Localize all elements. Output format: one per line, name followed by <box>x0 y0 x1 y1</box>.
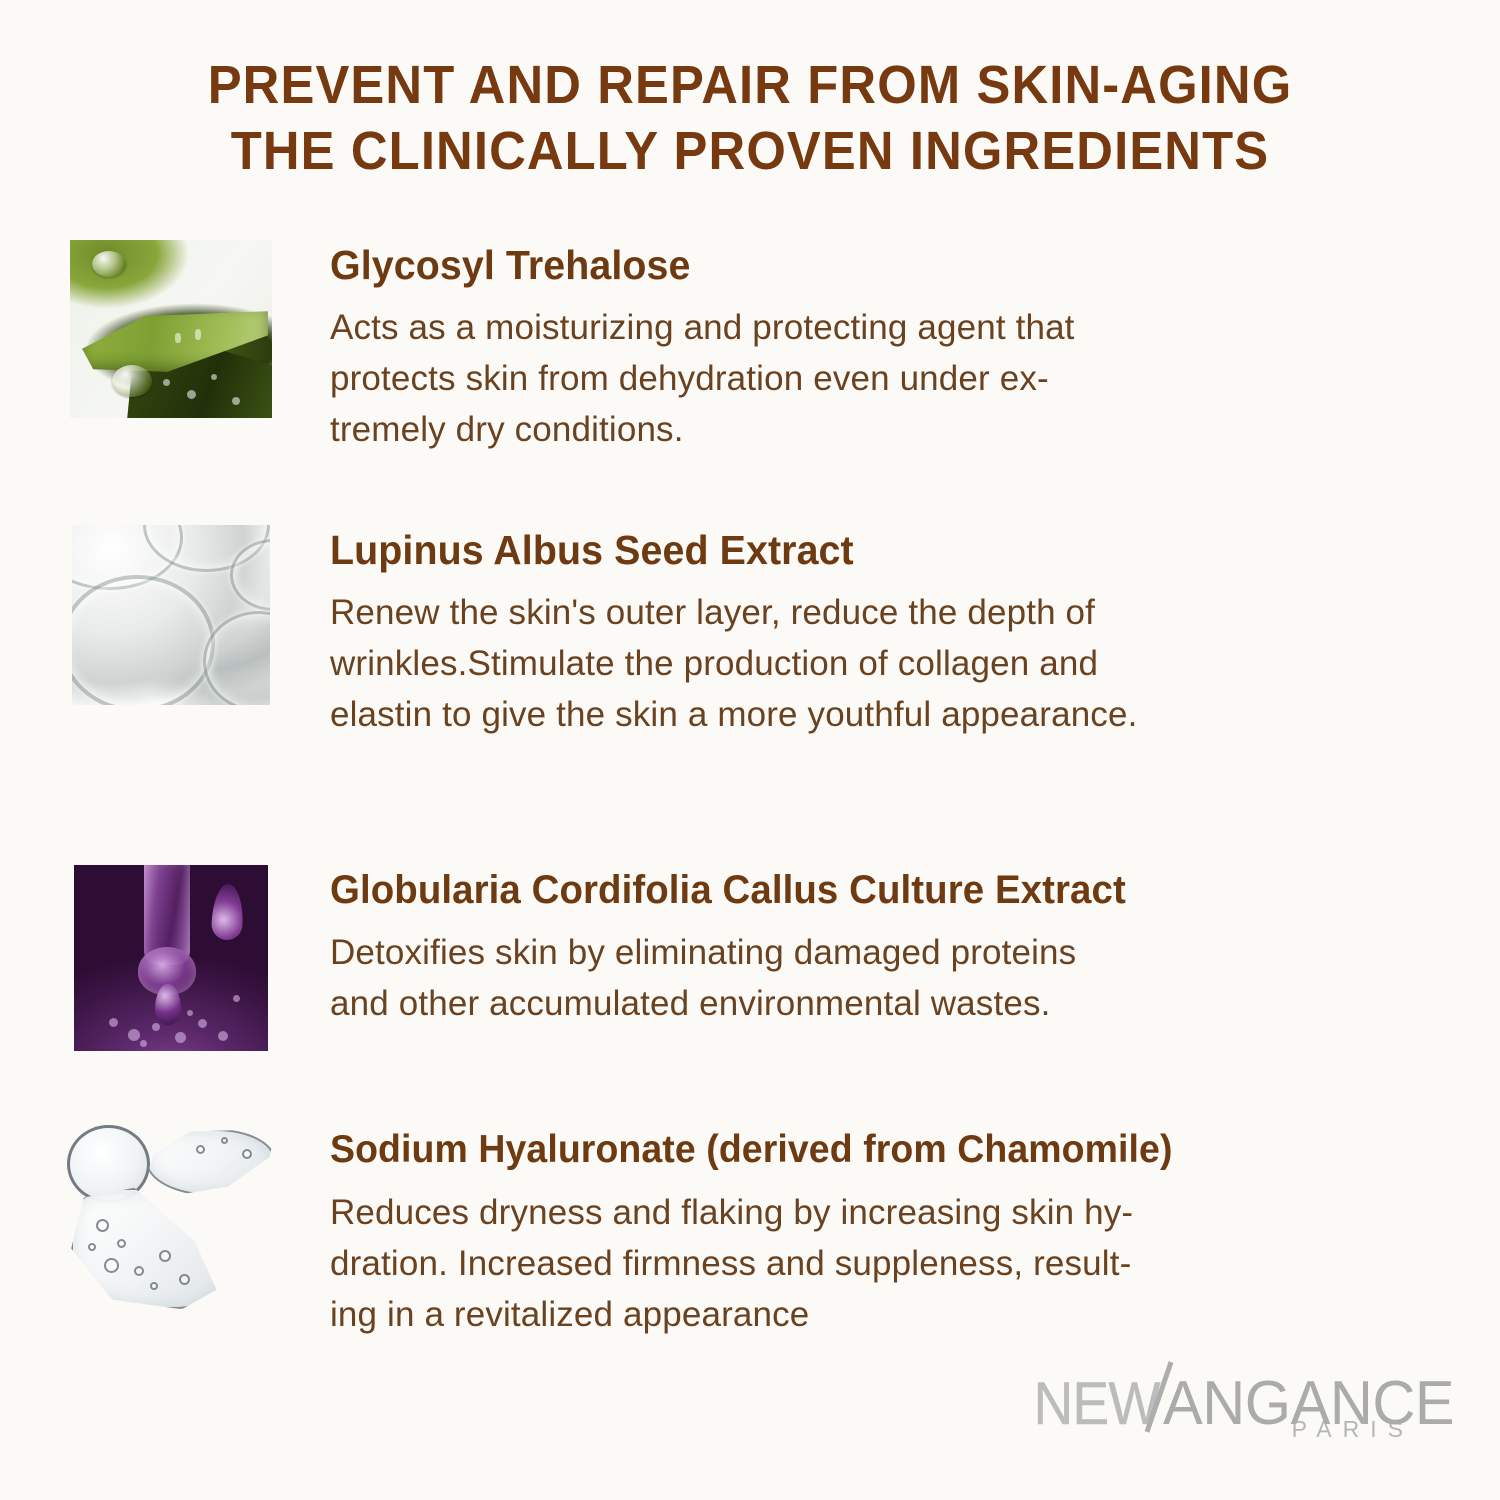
ingredient-thumbnail-wrap-3 <box>0 865 330 1051</box>
description-line: Acts as a moisturizing and protecting ag… <box>330 302 1470 353</box>
droplet-speck <box>232 397 240 405</box>
bubble-dot <box>218 1031 228 1041</box>
gel-bubble <box>159 1250 171 1262</box>
ingredient-row-1: Glycosyl Trehalose Acts as a moisturizin… <box>0 240 1500 455</box>
ingredient-text-3: Globularia Cordifolia Callus Culture Ext… <box>330 865 1500 1029</box>
bubble-ring <box>72 575 215 705</box>
logo-wordmark: NEW ANGANCE <box>1040 1350 1460 1412</box>
droplet-speck <box>195 329 201 340</box>
water-droplet-icon <box>112 365 152 397</box>
ingredient-description-1: Acts as a moisturizing and protecting ag… <box>330 302 1470 455</box>
ingredient-thumbnail-wrap-2 <box>0 525 330 705</box>
logo-angance-text: ANGANCE <box>1163 1368 1454 1439</box>
description-line: dration. Increased firmness and supplene… <box>330 1238 1470 1289</box>
bubble-dot <box>128 1029 140 1041</box>
ingredient-row-2: Lupinus Albus Seed Extract Renew the ski… <box>0 525 1500 740</box>
droplet-speck <box>175 333 181 343</box>
gel-bubble <box>221 1137 228 1144</box>
gel-bubble <box>196 1145 205 1154</box>
gel-bubble <box>117 1239 126 1248</box>
white-translucent-bubbles-photo <box>72 525 270 705</box>
purple-ampoule-droplet-photo <box>74 865 268 1051</box>
ingredient-name-3: Globularia Cordifolia Callus Culture Ext… <box>330 865 1424 915</box>
title-line-1: PREVENT AND REPAIR FROM SKIN-AGING <box>45 52 1455 118</box>
description-line: protects skin from dehydration even unde… <box>330 353 1470 404</box>
gel-bubble <box>242 1149 252 1159</box>
ingredient-description-3: Detoxifies skin by eliminating damaged p… <box>330 927 1470 1029</box>
ingredient-name-4: Sodium Hyaluronate (derived from Chamomi… <box>330 1125 1424 1175</box>
description-line: ing in a revitalized appearance <box>330 1289 1470 1340</box>
title-line-2: THE CLINICALLY PROVEN INGREDIENTS <box>45 118 1455 184</box>
description-line: and other accumulated environmental wast… <box>330 978 1470 1029</box>
ingredient-description-4: Reduces dryness and flaking by increasin… <box>330 1187 1470 1340</box>
description-line: tremely dry conditions. <box>330 404 1470 455</box>
description-line: Renew the skin's outer layer, reduce the… <box>330 587 1470 638</box>
infographic-page: PREVENT AND REPAIR FROM SKIN-AGING THE C… <box>0 0 1500 1500</box>
gel-bubble <box>150 1282 158 1290</box>
droplet-speck <box>187 390 196 399</box>
ingredient-name-1: Glycosyl Trehalose <box>330 240 1424 290</box>
gel-upper-blob <box>146 1129 275 1196</box>
gel-bubble <box>134 1266 144 1276</box>
gel-bubble <box>88 1243 96 1251</box>
bubble-dot <box>109 1018 118 1027</box>
description-line: wrinkles.Stimulate the production of col… <box>330 638 1470 689</box>
description-line: elastin to give the skin a more youthful… <box>330 689 1470 740</box>
water-droplet-icon <box>92 251 126 277</box>
description-line: Reduces dryness and flaking by increasin… <box>330 1187 1470 1238</box>
ingredient-text-1: Glycosyl Trehalose Acts as a moisturizin… <box>330 240 1500 455</box>
bubble-dot <box>140 1040 147 1047</box>
green-leaf-water-droplets-photo <box>70 240 272 418</box>
description-line: Detoxifies skin by eliminating damaged p… <box>330 927 1470 978</box>
brand-logo: NEW ANGANCE PARIS <box>1040 1350 1460 1458</box>
logo-new-text: NEW <box>1033 1369 1159 1438</box>
ingredient-text-4: Sodium Hyaluronate (derived from Chamomi… <box>330 1125 1500 1340</box>
ingredient-name-2: Lupinus Albus Seed Extract <box>330 525 1424 575</box>
page-title: PREVENT AND REPAIR FROM SKIN-AGING THE C… <box>0 52 1500 184</box>
ingredient-row-4: Sodium Hyaluronate (derived from Chamomi… <box>0 1125 1500 1340</box>
bubble-dot <box>152 1023 160 1031</box>
ingredient-description-2: Renew the skin's outer layer, reduce the… <box>330 587 1470 740</box>
falling-droplet-icon <box>155 984 180 1025</box>
ingredient-thumbnail-wrap-1 <box>0 240 330 418</box>
ingredient-text-2: Lupinus Albus Seed Extract Renew the ski… <box>330 525 1500 740</box>
ingredient-thumbnail-wrap-4 <box>0 1125 330 1321</box>
droplet-speck <box>163 379 170 386</box>
clear-gel-serum-bubbles-photo <box>67 1125 275 1321</box>
bubble-dot <box>187 1010 193 1016</box>
ingredient-row-3: Globularia Cordifolia Callus Culture Ext… <box>0 865 1500 1051</box>
droplet-speck <box>211 374 217 380</box>
